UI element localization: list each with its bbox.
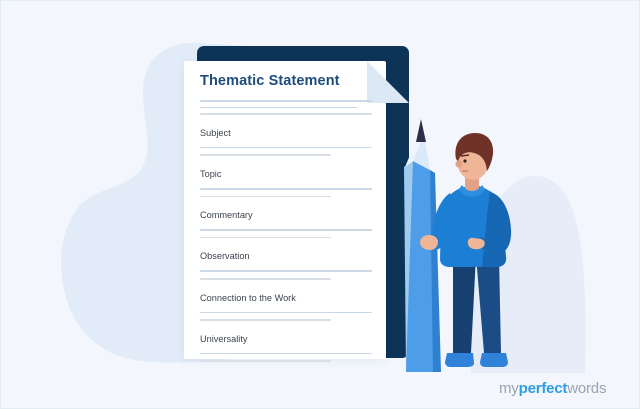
document-content: Thematic Statement Subject Topic Comment… xyxy=(200,63,372,353)
section-rule-wide xyxy=(200,147,372,149)
section-rule-short xyxy=(200,360,331,362)
section-connection-to-the-work: Connection to the Work xyxy=(200,293,372,321)
logo-text-my: my xyxy=(499,380,519,397)
page-title: Thematic Statement xyxy=(200,73,372,89)
section-rule-short xyxy=(200,278,331,280)
section-rule-wide xyxy=(200,188,372,190)
section-rule-wide xyxy=(200,270,372,272)
logo-text-perfect: perfect xyxy=(519,380,568,397)
section-rule-wide xyxy=(200,353,372,355)
section-rule-short xyxy=(200,196,331,198)
section-subject: Subject xyxy=(200,128,372,156)
brand-logo[interactable]: myperfectwords xyxy=(499,380,606,397)
section-label-subject: Subject xyxy=(200,128,372,138)
illustration-canvas: Thematic Statement Subject Topic Comment… xyxy=(0,0,640,409)
section-commentary: Commentary xyxy=(200,210,372,238)
title-rule-1 xyxy=(200,100,372,102)
section-observation: Observation xyxy=(200,251,372,279)
section-rule-wide xyxy=(200,312,372,314)
section-rule-short xyxy=(200,319,331,321)
logo-text-words: words xyxy=(567,380,606,397)
section-label-connection-to-the-work: Connection to the Work xyxy=(200,293,372,303)
section-rule-short xyxy=(200,237,331,239)
title-divider-rule xyxy=(200,113,372,115)
section-label-observation: Observation xyxy=(200,251,372,261)
section-rule-wide xyxy=(200,229,372,231)
section-label-universality: Universality xyxy=(200,334,372,344)
title-rule-2 xyxy=(200,107,358,109)
title-rule-group xyxy=(200,100,372,115)
section-universality: Universality xyxy=(200,334,372,362)
section-topic: Topic xyxy=(200,169,372,197)
section-label-topic: Topic xyxy=(200,169,372,179)
section-rule-short xyxy=(200,154,331,156)
section-label-commentary: Commentary xyxy=(200,210,372,220)
right-blue-arch-shape xyxy=(471,176,586,373)
